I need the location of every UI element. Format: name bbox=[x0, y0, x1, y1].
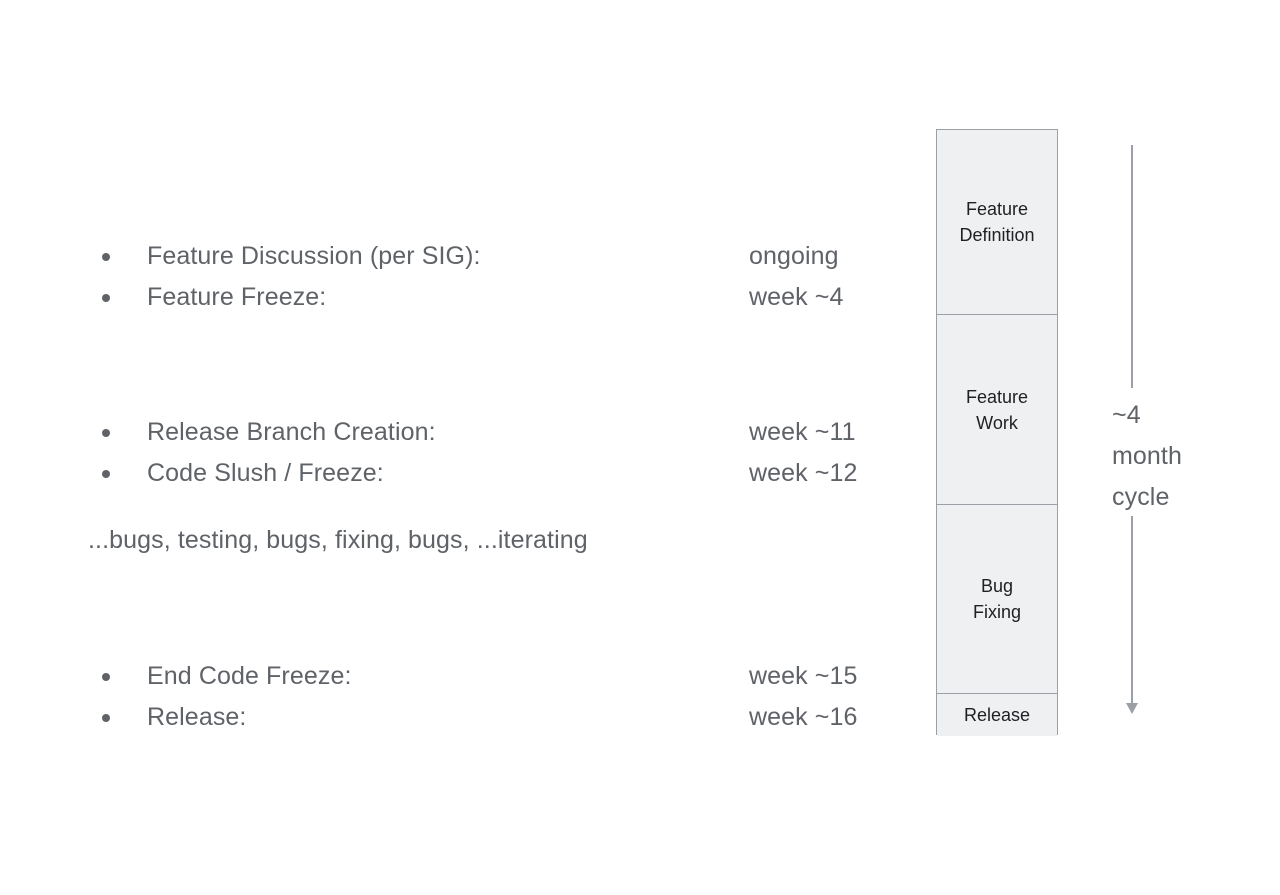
cycle-arrow-line-lower bbox=[1131, 516, 1133, 706]
arrow-down-icon bbox=[1126, 703, 1138, 714]
bullet-icon bbox=[102, 673, 110, 681]
milestone-label: End Code Freeze: bbox=[147, 656, 352, 697]
phase-cell-release: Release bbox=[937, 693, 1057, 736]
milestone-value: ongoing bbox=[749, 236, 839, 277]
iteration-note: ...bugs, testing, bugs, fixing, bugs, ..… bbox=[88, 522, 588, 558]
milestone-label: Feature Discussion (per SIG): bbox=[147, 236, 481, 277]
phase-cell-bug-fixing: Bug Fixing bbox=[937, 504, 1057, 693]
cycle-duration-label: ~4 month cycle bbox=[1112, 395, 1242, 518]
bullet-icon bbox=[102, 253, 110, 261]
milestone-label: Code Slush / Freeze: bbox=[147, 453, 384, 494]
list-item: Release: week ~16 bbox=[88, 697, 918, 738]
phase-label: Bug Fixing bbox=[973, 573, 1021, 625]
phase-label: Release bbox=[964, 702, 1030, 728]
list-item: Feature Discussion (per SIG): ongoing bbox=[88, 236, 918, 277]
milestone-label: Release: bbox=[147, 697, 246, 738]
cycle-label-line1: ~4 bbox=[1112, 401, 1141, 429]
milestone-label: Feature Freeze: bbox=[147, 277, 326, 318]
phase-label-line2: Definition bbox=[959, 225, 1034, 245]
milestone-group-2: Release Branch Creation: week ~11 Code S… bbox=[88, 412, 918, 494]
bullet-icon bbox=[102, 714, 110, 722]
phase-label-line1: Bug bbox=[981, 576, 1013, 596]
list-item: Release Branch Creation: week ~11 bbox=[88, 412, 918, 453]
bullet-icon bbox=[102, 429, 110, 437]
milestone-value: week ~15 bbox=[749, 656, 858, 697]
slide-canvas: Feature Discussion (per SIG): ongoing Fe… bbox=[0, 0, 1280, 895]
phase-cell-feature-work: Feature Work bbox=[937, 314, 1057, 504]
milestone-group-3: End Code Freeze: week ~15 Release: week … bbox=[88, 656, 918, 738]
milestone-value: week ~11 bbox=[749, 412, 856, 453]
phase-label: Feature Work bbox=[966, 384, 1028, 436]
cycle-label-line2: month bbox=[1112, 442, 1182, 470]
phase-cell-feature-definition: Feature Definition bbox=[937, 130, 1057, 314]
phase-label: Feature Definition bbox=[959, 196, 1034, 248]
milestone-group-1: Feature Discussion (per SIG): ongoing Fe… bbox=[88, 236, 918, 318]
milestone-label: Release Branch Creation: bbox=[147, 412, 436, 453]
milestone-value: week ~12 bbox=[749, 453, 858, 494]
phase-label-line1: Feature bbox=[966, 199, 1028, 219]
list-item: End Code Freeze: week ~15 bbox=[88, 656, 918, 697]
milestone-value: week ~16 bbox=[749, 697, 858, 738]
phase-bar: Feature Definition Feature Work Bug Fixi… bbox=[936, 129, 1058, 735]
phase-label-line2: Fixing bbox=[973, 602, 1021, 622]
phase-label-line2: Work bbox=[976, 413, 1018, 433]
cycle-arrow-line-upper bbox=[1131, 145, 1133, 388]
list-item: Code Slush / Freeze: week ~12 bbox=[88, 453, 918, 494]
bullet-icon bbox=[102, 470, 110, 478]
cycle-label-line3: cycle bbox=[1112, 483, 1169, 511]
bullet-icon bbox=[102, 294, 110, 302]
milestone-value: week ~4 bbox=[749, 277, 844, 318]
list-item: Feature Freeze: week ~4 bbox=[88, 277, 918, 318]
phase-label-line1: Feature bbox=[966, 387, 1028, 407]
